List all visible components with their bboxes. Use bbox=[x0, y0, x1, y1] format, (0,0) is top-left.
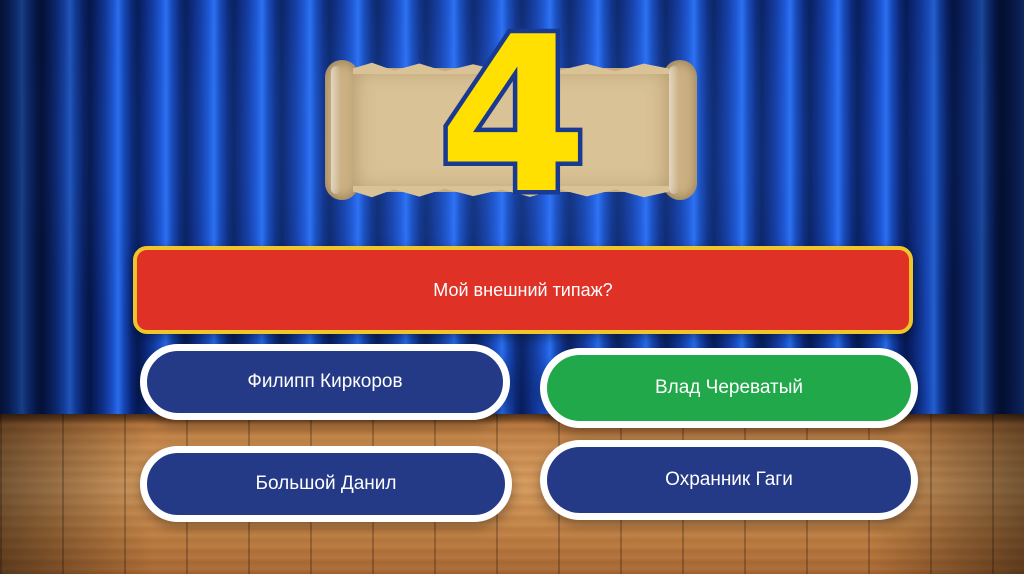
scroll-banner: 4 bbox=[325, 60, 697, 200]
question-panel: Мой внешний типаж? bbox=[133, 246, 913, 334]
answer-option-1-label: Филипп Киркоров bbox=[247, 371, 402, 393]
quiz-slide: 4 Мой внешний типаж? Филипп Киркоров Вла… bbox=[0, 0, 1024, 574]
question-text: Мой внешний типаж? bbox=[433, 280, 612, 301]
answer-option-2[interactable]: Влад Череватый bbox=[540, 348, 918, 428]
answer-option-3[interactable]: Большой Данил bbox=[140, 446, 512, 522]
answer-option-4[interactable]: Охранник Гаги bbox=[540, 440, 918, 520]
answer-option-3-label: Большой Данил bbox=[256, 473, 397, 495]
answer-option-2-label: Влад Череватый bbox=[655, 377, 803, 399]
answer-option-4-label: Охранник Гаги bbox=[665, 469, 793, 491]
answer-option-1[interactable]: Филипп Киркоров bbox=[140, 344, 510, 420]
question-number: 4 bbox=[325, 8, 697, 223]
